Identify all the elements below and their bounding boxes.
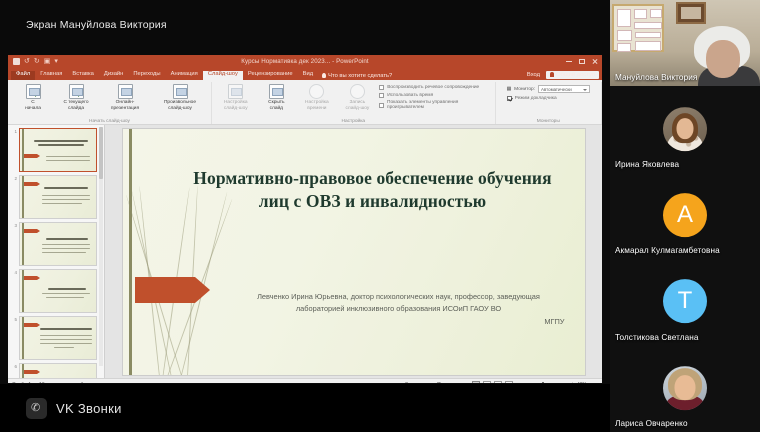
ppt-status-bar: Слайд 1 из 16 русский Заметки Примечания	[8, 378, 602, 383]
participant-tile-yakovleva[interactable]: Ирина Яковлева	[610, 86, 760, 172]
checkbox-box[interactable]	[379, 85, 384, 90]
thumbnail-slide-3[interactable]	[19, 222, 97, 266]
button-record-slideshow[interactable]: Запись слайд-шоу	[339, 82, 377, 112]
undo-icon[interactable]: ↺	[24, 58, 30, 65]
vk-footer: ✆ VK Звонки	[0, 384, 610, 432]
participant-name: Лариса Овчаренко	[615, 419, 688, 428]
window-controls[interactable]	[566, 57, 598, 64]
thumbnail-number: 3	[10, 222, 17, 228]
button-start-from-current[interactable]: С текущего слайда	[56, 82, 96, 112]
participant-name: Толстикова Светлана	[615, 333, 699, 342]
thumb-text-line	[42, 199, 90, 200]
comments-label: Примечания	[437, 382, 466, 383]
ribbon-group-start-slideshow: С начала С текущего слайда Онлайн- презе…	[8, 82, 212, 124]
thumb-arrow	[24, 154, 37, 158]
thumb-text-line	[42, 252, 86, 253]
record-slideshow-icon	[350, 84, 365, 99]
thumbnail-number: 6	[10, 363, 17, 369]
tab-home[interactable]: Главная	[35, 71, 67, 80]
monitor-icon: ▦	[507, 87, 512, 92]
checkbox-play-narrations[interactable]: Воспроизводить речевое сопровождение	[379, 85, 489, 90]
tell-me-label: Что вы хотите сделать?	[328, 73, 392, 79]
tell-me-box[interactable]: Что вы хотите сделать?	[318, 71, 396, 80]
monitor-selector-row[interactable]: ▦ Монитор: Автоматически	[507, 85, 590, 93]
zoom-knob[interactable]	[542, 382, 544, 384]
tab-file[interactable]: Файл	[11, 71, 35, 80]
slide-edit-area[interactable]: Нормативно-правовое обеспечение обучения…	[105, 125, 602, 378]
monitor-dropdown[interactable]: Автоматически	[538, 85, 590, 93]
screen-share-region: Экран Мануйлова Виктория ↺ ↻ ▣ ▾ Курсы Н…	[0, 0, 610, 432]
avatar-letter: А	[677, 201, 693, 229]
current-slide[interactable]: Нормативно-правовое обеспечение обучения…	[123, 129, 585, 375]
ribbon-tabs[interactable]: Файл Главная Вставка Дизайн Переходы Ани…	[8, 68, 602, 80]
thumb-arrow	[24, 323, 37, 327]
language-label[interactable]: русский	[66, 382, 84, 383]
slide-edge-bar	[129, 129, 132, 375]
button-label: Онлайн- презентация	[111, 100, 139, 112]
share-button-label: Общий доступ	[556, 72, 595, 78]
tab-transitions[interactable]: Переходы	[128, 71, 165, 80]
group-title: Настройка	[212, 119, 495, 124]
thumb-text-line	[46, 156, 90, 157]
grass-decoration	[123, 129, 283, 375]
ppt-workspace: 1 2	[8, 125, 602, 378]
quick-access-toolbar[interactable]: ↺ ↻ ▣ ▾	[8, 58, 58, 65]
scrollbar-knob[interactable]	[99, 127, 103, 179]
custom-slideshow-icon	[173, 84, 188, 99]
redo-icon[interactable]: ↻	[34, 58, 40, 65]
participants-rail[interactable]: Мануйлова Виктория Ирина Яковлева А Акма…	[610, 0, 760, 432]
wall-picture-frame	[676, 2, 706, 24]
thumbnail-slide-6[interactable]	[19, 363, 97, 378]
view-buttons[interactable]	[472, 381, 513, 383]
checkbox-box[interactable]	[507, 96, 512, 101]
thumb-title-line	[48, 288, 86, 290]
thumbnail-slide-2[interactable]	[19, 175, 97, 219]
button-setup-slideshow[interactable]: Настройка слайд-шоу	[217, 82, 255, 112]
thumb-title-line	[34, 140, 88, 142]
avatar	[663, 366, 707, 410]
account-share-group[interactable]: Вход Общий доступ	[527, 71, 599, 79]
thumb-text-line	[42, 248, 90, 249]
participant-tile-kulmagambetovna[interactable]: А Акмарал Кулмагамбетовна	[610, 173, 760, 259]
slide-title[interactable]: Нормативно-правовое обеспечение обучения…	[183, 167, 563, 214]
participant-tile-tolstikova[interactable]: Т Толстикова Светлана	[610, 259, 760, 345]
participant-name: Акмарал Кулмагамбетовна	[615, 246, 720, 255]
button-start-from-beginning[interactable]: С начала	[13, 82, 53, 112]
thumbnail-slide-5[interactable]	[19, 316, 97, 360]
thumb-title-line	[38, 144, 84, 146]
reading-view-button[interactable]	[494, 381, 502, 383]
ribbon: С начала С текущего слайда Онлайн- презе…	[8, 80, 602, 125]
thumbnail-row[interactable]: 6	[10, 363, 102, 378]
zoom-level: 48%	[577, 382, 587, 383]
ribbon-group-setup: Настройка слайд-шоу Скрыть слайд Настрой…	[212, 82, 496, 124]
participant-tile-ovcharenko[interactable]: Лариса Овчаренко	[610, 346, 760, 432]
thumb-arrow	[24, 182, 37, 186]
thumb-arrow	[24, 370, 37, 374]
lightbulb-icon	[322, 73, 326, 78]
slide-counter: Слайд 1 из 16	[12, 382, 45, 383]
tab-insert[interactable]: Вставка	[67, 71, 99, 80]
thumb-text-line	[42, 244, 90, 245]
language-icon	[53, 383, 58, 384]
checkbox-box[interactable]	[379, 103, 384, 108]
thumbnail-row[interactable]: 3	[10, 222, 102, 266]
slideshow-view-button[interactable]	[505, 381, 513, 383]
rehearse-timings-icon	[309, 84, 324, 99]
thumbnail-number: 1	[10, 128, 17, 134]
participant-name: Ирина Яковлева	[615, 160, 679, 169]
thumbnail-scrollbar[interactable]	[99, 127, 103, 366]
start-slideshow-icon[interactable]: ▣	[44, 58, 51, 65]
vk-calls-phone-icon: ✆	[26, 398, 47, 419]
present-online-icon	[118, 84, 133, 99]
thumb-arrow	[24, 229, 37, 233]
normal-view-button[interactable]	[472, 381, 480, 383]
button-label: С текущего слайда	[63, 100, 88, 112]
checkbox-label: Показать элементы управления проигрывате…	[387, 100, 490, 110]
vk-app-name: VK Звонки	[56, 401, 122, 416]
setup-checkboxes: Воспроизводить речевое сопровождение Исп…	[379, 82, 489, 112]
ribbon-group-monitors: ▦ Монитор: Автоматически Режим докладчик…	[496, 82, 602, 124]
button-hide-slide[interactable]: Скрыть слайд	[258, 82, 296, 112]
powerpoint-window: ↺ ↻ ▣ ▾ Курсы Нормативка дек 2023... - P…	[8, 55, 602, 383]
notes-icon	[398, 383, 403, 384]
ppt-window-title: Курсы Нормативка дек 2023... - PowerPoin…	[8, 58, 602, 65]
thumb-text-line	[42, 293, 90, 294]
bulletin-board	[612, 4, 664, 52]
thumbnail-number: 2	[10, 175, 17, 181]
button-label: Скрыть слайд	[268, 100, 284, 112]
subtitle-line-3: МГПУ	[233, 316, 565, 329]
thumbnail-row[interactable]: 5	[10, 316, 102, 360]
checkbox-show-media-controls[interactable]: Показать элементы управления проигрывате…	[379, 100, 489, 110]
notes-label: Заметки	[405, 382, 424, 383]
thumbnail-number: 4	[10, 269, 17, 275]
avatar-initial: А	[663, 193, 707, 237]
slide-thumbnail-pane[interactable]: 1 2	[8, 125, 105, 378]
button-label: Настройка слайд-шоу	[224, 100, 248, 112]
thumbnail-slide-1[interactable]	[19, 128, 97, 172]
thumb-text-line	[54, 347, 74, 348]
restore-icon[interactable]	[579, 59, 585, 64]
thumb-title-line	[44, 187, 88, 189]
button-label: Произвольное слайд-шоу	[164, 100, 196, 112]
thumbnail-slide-4[interactable]	[19, 269, 97, 313]
thumbnail-row[interactable]: 1	[10, 128, 102, 172]
button-rehearse-timings[interactable]: Настройка времени	[298, 82, 336, 112]
monitor-label: Монитор:	[514, 87, 535, 92]
tab-animations[interactable]: Анимация	[166, 71, 203, 80]
thumb-text-line	[40, 343, 92, 344]
tab-slideshow[interactable]: Слайд-шоу	[203, 71, 243, 80]
avatar-letter: Т	[678, 287, 693, 315]
notes-button[interactable]: Заметки	[398, 382, 424, 383]
thumbnail-number: 5	[10, 316, 17, 322]
button-label: Настройка времени	[305, 100, 329, 112]
chevron-down-icon[interactable]: ▾	[54, 58, 58, 65]
zoom-out-icon[interactable]: −	[519, 382, 523, 383]
button-custom-slideshow[interactable]: Произвольное слайд-шоу	[154, 82, 206, 112]
avatar	[663, 107, 707, 151]
tab-view[interactable]: Вид	[298, 71, 319, 80]
status-bar-right: Заметки Примечания −	[398, 381, 598, 383]
tab-review[interactable]: Рецензирование	[243, 71, 298, 80]
ppt-title-bar: ↺ ↻ ▣ ▾ Курсы Нормативка дек 2023... - P…	[8, 55, 602, 68]
avatar-initial: Т	[663, 279, 707, 323]
thumb-edge-bar	[22, 129, 24, 171]
start-from-current-icon	[69, 84, 84, 99]
close-icon[interactable]	[592, 58, 598, 64]
thumb-text-line	[46, 297, 84, 298]
button-present-online[interactable]: Онлайн- презентация	[99, 82, 151, 112]
signin-label[interactable]: Вход	[527, 72, 540, 78]
person-icon	[550, 72, 554, 77]
thumb-title-line	[46, 238, 88, 240]
minimize-icon[interactable]	[566, 61, 572, 62]
save-icon[interactable]	[13, 58, 20, 65]
checkbox-box[interactable]	[379, 93, 384, 98]
hide-slide-icon	[269, 84, 284, 99]
thumb-text-line	[40, 335, 92, 336]
share-button[interactable]: Общий доступ	[546, 71, 599, 79]
zoom-slider[interactable]: − + 48%	[519, 382, 587, 383]
slide-subtitle[interactable]: Левченко Ирина Юрьевна, доктор психологи…	[233, 291, 565, 330]
participant-tile-manuylova[interactable]: Мануйлова Виктория	[610, 0, 760, 86]
subtitle-line-1: Левченко Ирина Юрьевна, доктор психологи…	[257, 292, 495, 301]
checkbox-label: Использовать время	[387, 93, 433, 98]
thumbnail-row[interactable]: 4	[10, 269, 102, 313]
group-title: Мониторы	[496, 119, 601, 124]
start-from-beginning-icon	[26, 84, 41, 99]
comment-icon	[430, 383, 435, 384]
setup-slideshow-icon	[228, 84, 243, 99]
app-root: Экран Мануйлова Виктория ↺ ↻ ▣ ▾ Курсы Н…	[0, 0, 760, 432]
slide-arrow-shape[interactable]	[135, 277, 195, 303]
thumb-text-line	[42, 195, 90, 196]
checkbox-label: Режим докладчика	[515, 96, 557, 101]
thumb-text-line	[42, 203, 82, 204]
thumb-title-line	[40, 328, 92, 330]
thumb-arrow	[24, 276, 37, 280]
screen-share-label: Экран Мануйлова Виктория	[26, 19, 167, 31]
checkbox-label: Воспроизводить речевое сопровождение	[387, 85, 479, 90]
thumb-text-line	[46, 160, 90, 161]
button-label: Запись слайд-шоу	[346, 100, 370, 112]
monitor-value: Автоматически	[541, 87, 572, 92]
checkbox-presenter-view[interactable]: Режим докладчика	[507, 96, 590, 101]
participant-name: Мануйлова Виктория	[615, 73, 697, 82]
group-title: Начать слайд-шоу	[8, 119, 211, 124]
checkbox-use-timings[interactable]: Использовать время	[379, 93, 489, 98]
comments-button[interactable]: Примечания	[430, 382, 466, 383]
fit-to-window-icon[interactable]	[593, 383, 598, 384]
thumb-text-line	[40, 339, 92, 340]
slide-sorter-view-button[interactable]	[483, 381, 491, 383]
thumbnail-row[interactable]: 2	[10, 175, 102, 219]
button-label: С начала	[25, 100, 41, 112]
tab-design[interactable]: Дизайн	[99, 71, 129, 80]
zoom-in-icon[interactable]: +	[570, 382, 574, 383]
